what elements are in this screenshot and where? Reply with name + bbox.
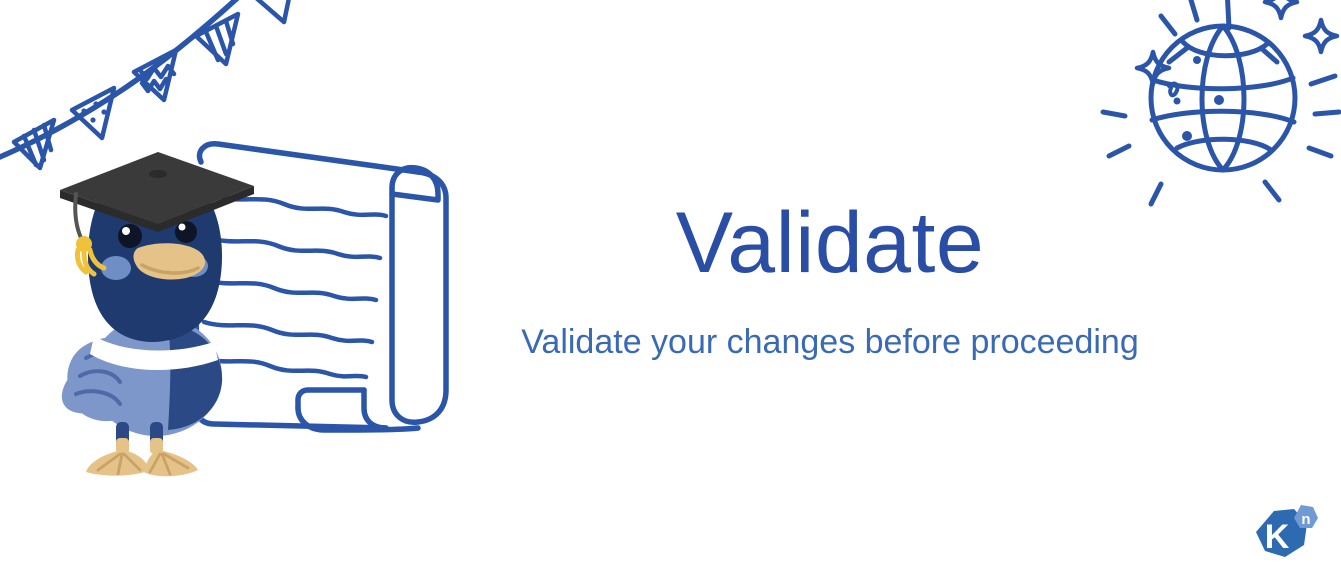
graduation-cap-icon <box>60 152 254 274</box>
slide-canvas: Validate Validate your changes before pr… <box>0 0 1341 585</box>
brand-logo[interactable]: K n <box>1247 503 1321 573</box>
graduation-bird-with-scroll-illustration <box>46 128 476 478</box>
logo-letter-n: n <box>1301 511 1310 528</box>
slide-text-block: Validate Validate your changes before pr… <box>470 198 1190 363</box>
page-title: Validate <box>470 198 1190 288</box>
party-bunting-decoration <box>0 0 312 180</box>
page-subtitle: Validate your changes before proceeding <box>470 322 1190 363</box>
bird-mascot <box>60 152 254 476</box>
scroll-icon <box>194 144 450 430</box>
logo-letter-k: K <box>1265 518 1290 556</box>
